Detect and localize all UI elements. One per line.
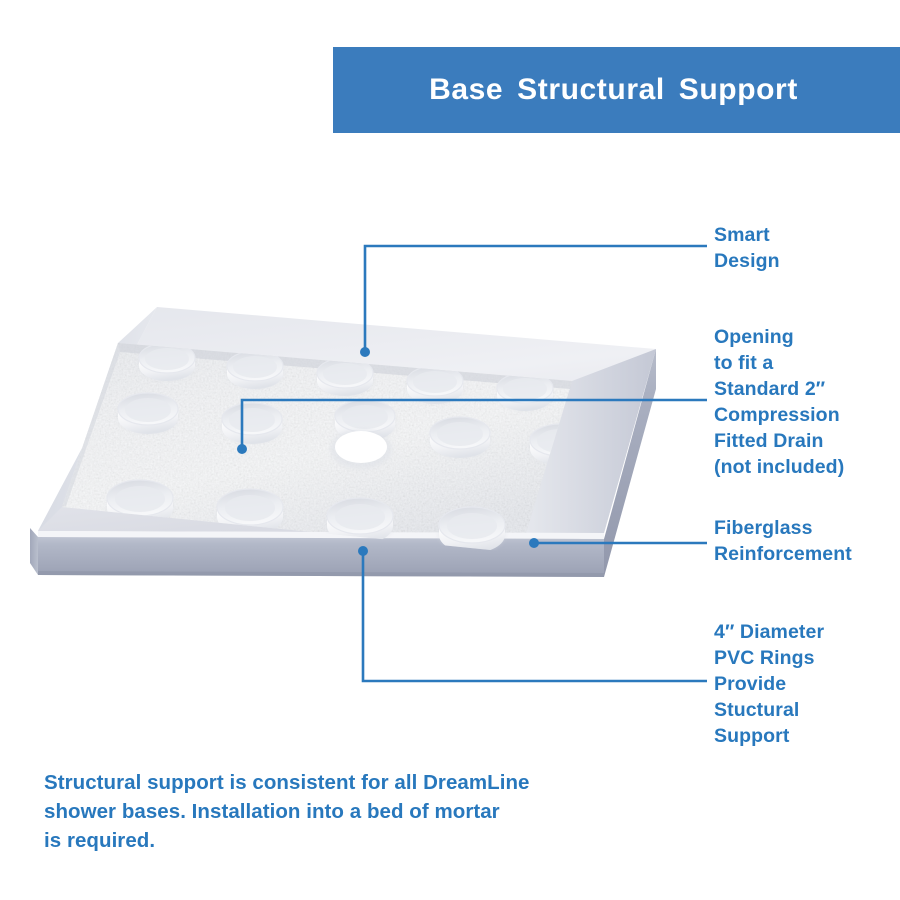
page-title: Base Structural Support [429,73,804,107]
drain-opening [330,429,392,469]
base-side-left-corner [30,528,38,575]
caption-line: Structural support is consistent for all… [44,768,644,797]
callout-line: PVC Rings [714,645,824,671]
callout-line: to fit a [714,350,844,376]
callout-line: Fiberglass [714,515,852,541]
callout-line: Compression [714,402,844,428]
base-side-front-left [38,537,604,577]
callout-pvc-rings: 4″ Diameter PVC Rings Provide Stuctural … [714,619,824,749]
callout-line: Smart [714,222,780,248]
pvc-ring [118,393,178,434]
pvc-ring [317,358,373,396]
pvc-ring [227,351,283,389]
callout-line: Support [714,723,824,749]
header-banner: Base Structural Support [333,47,900,133]
pvc-ring [407,366,463,404]
callout-line: (not included) [714,454,844,480]
pvc-ring [222,403,282,444]
bottom-caption: Structural support is consistent for all… [44,768,644,855]
callout-line: 4″ Diameter [714,619,824,645]
pvc-ring [430,417,490,458]
callout-line: Provide [714,671,824,697]
callout-line: Design [714,248,780,274]
callout-line: Stuctural [714,697,824,723]
callout-line: Standard 2″ [714,376,844,402]
callout-line: Fitted Drain [714,428,844,454]
caption-line: is required. [44,826,644,855]
callout-fiberglass: Fiberglass Reinforcement [714,515,852,567]
callout-line: Reinforcement [714,541,852,567]
shower-base-illustration [0,285,710,625]
callout-smart-design: Smart Design [714,222,780,274]
callout-opening: Opening to fit a Standard 2″ Compression… [714,324,844,480]
caption-line: shower bases. Installation into a bed of… [44,797,644,826]
callout-line: Opening [714,324,844,350]
